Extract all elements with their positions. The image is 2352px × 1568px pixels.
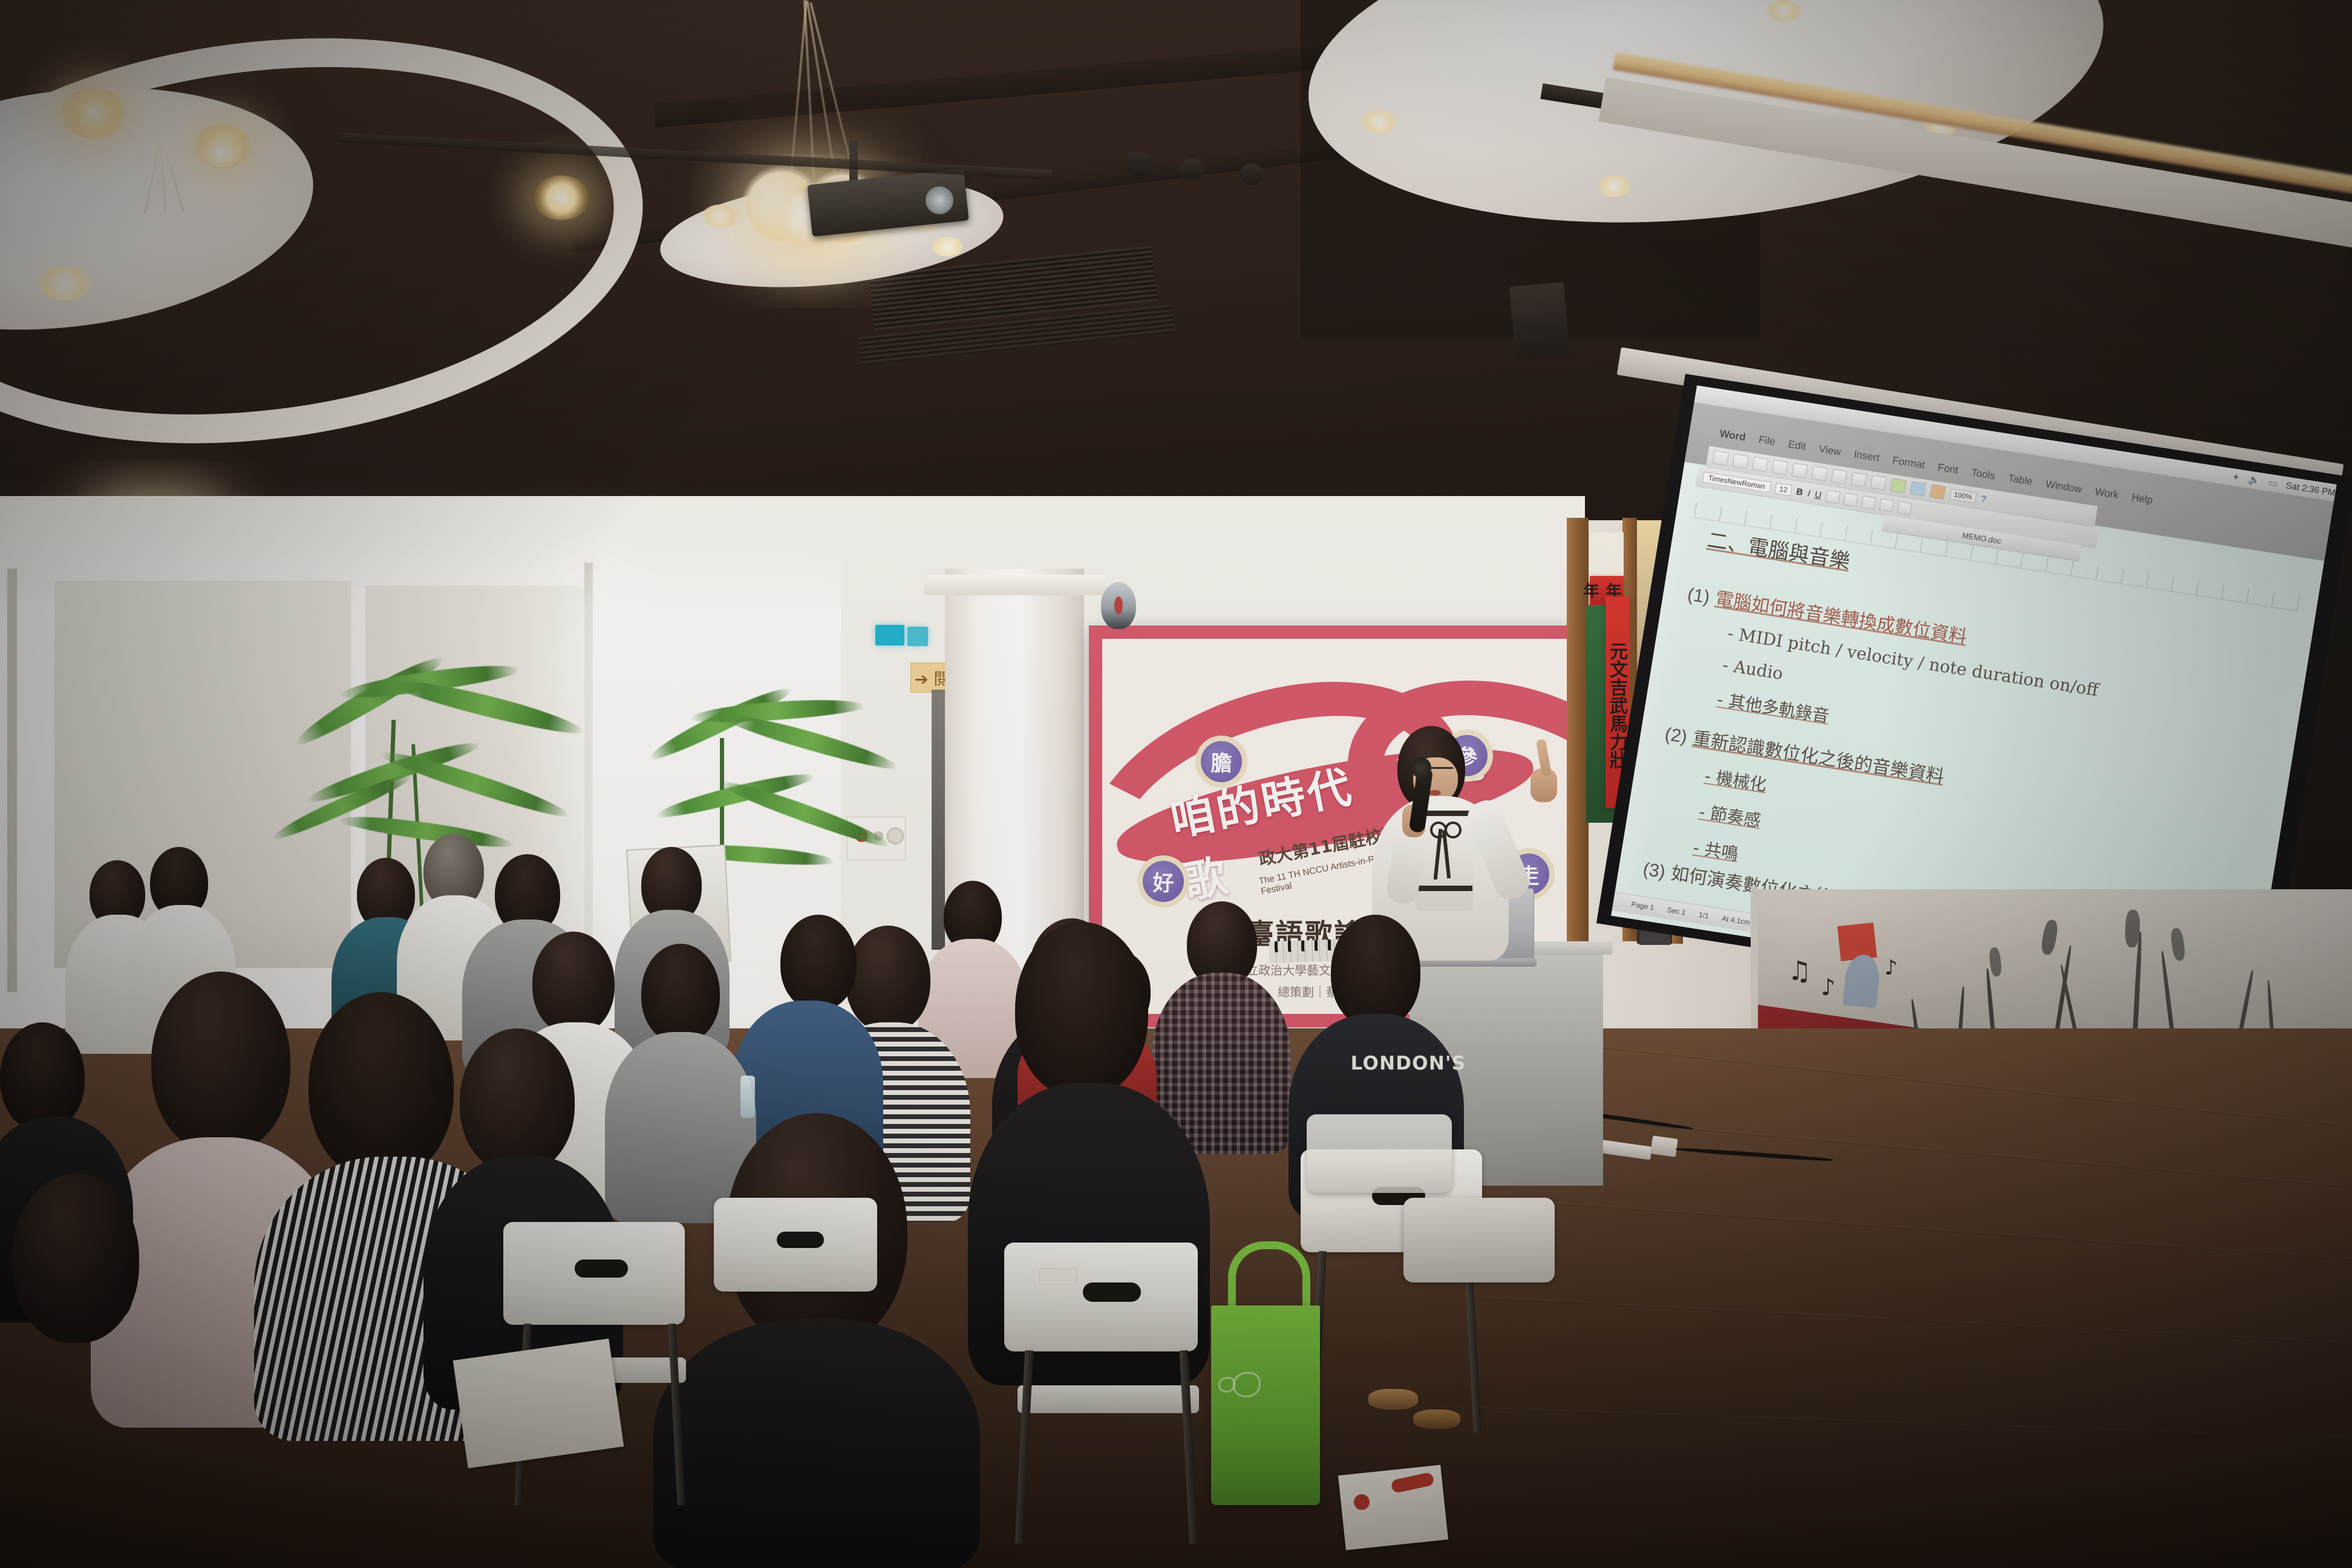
tote-bag-logo-icon bbox=[1218, 1377, 1235, 1393]
window-mullion bbox=[7, 569, 17, 992]
menu-item-work[interactable]: Work bbox=[2094, 486, 2120, 501]
menubar-icon-bluetooth[interactable]: ✦ bbox=[2231, 471, 2241, 484]
status-pages: 1/1 bbox=[1698, 910, 1710, 920]
window-mullion bbox=[584, 563, 593, 986]
downlight bbox=[1361, 110, 1397, 133]
section-2-number: (2) bbox=[1664, 724, 1689, 748]
align-center-icon[interactable] bbox=[1843, 493, 1858, 507]
booklet-red-accent bbox=[1354, 1494, 1370, 1510]
document-title: MEMO.doc bbox=[1962, 531, 2002, 546]
downlight bbox=[532, 175, 590, 220]
door-frame bbox=[1567, 518, 1589, 941]
audience-head bbox=[532, 932, 615, 1034]
paste-icon[interactable] bbox=[1831, 469, 1847, 484]
print-icon[interactable] bbox=[1772, 460, 1788, 475]
cut-icon[interactable] bbox=[1791, 463, 1808, 478]
chart-icon[interactable] bbox=[1910, 481, 1926, 496]
downlight bbox=[932, 237, 963, 256]
menu-item-help[interactable]: Help bbox=[2131, 491, 2154, 506]
menubar-icon-volume[interactable]: 🔈 bbox=[2247, 474, 2261, 488]
audience-head-foreground bbox=[460, 1028, 575, 1174]
audience-head bbox=[780, 915, 857, 1010]
downlight bbox=[1766, 0, 1802, 22]
menu-item-font[interactable]: Font bbox=[1937, 462, 1959, 477]
audience-head-foreground bbox=[309, 992, 454, 1180]
chair-handle-slot bbox=[777, 1232, 824, 1248]
audience-head bbox=[846, 926, 930, 1032]
menu-item-table[interactable]: Table bbox=[2007, 472, 2033, 488]
microphone-head bbox=[1411, 757, 1431, 778]
audience-body-foreground bbox=[653, 1319, 980, 1568]
downlight bbox=[60, 88, 127, 139]
chair-seat bbox=[1018, 1385, 1199, 1413]
menu-item-insert[interactable]: Insert bbox=[1853, 448, 1880, 464]
chair-handle-slot bbox=[575, 1259, 628, 1278]
menu-item-view[interactable]: View bbox=[1818, 443, 1841, 458]
menubar-clock[interactable]: Sat 2:36 PM bbox=[2285, 480, 2336, 498]
bold-button[interactable]: B bbox=[1795, 486, 1803, 497]
align-right-icon[interactable] bbox=[1861, 495, 1877, 509]
column-capital bbox=[924, 575, 1106, 595]
sandal bbox=[1413, 1410, 1460, 1429]
save-icon[interactable] bbox=[1752, 457, 1768, 472]
tote-bag-handle bbox=[1228, 1241, 1310, 1316]
audience-head bbox=[12, 1174, 139, 1343]
new-doc-icon[interactable] bbox=[1713, 451, 1729, 466]
downlight bbox=[36, 266, 92, 300]
status-page: Page 1 bbox=[1631, 900, 1655, 912]
zoom-level[interactable]: 100% bbox=[1949, 488, 1976, 503]
alarm-bell bbox=[887, 828, 904, 844]
tote-bag[interactable] bbox=[1211, 1305, 1320, 1505]
bullet-list-icon[interactable] bbox=[1879, 498, 1894, 512]
track-spotlight bbox=[1240, 163, 1263, 185]
exit-sign bbox=[907, 627, 928, 646]
menu-item-window[interactable]: Window bbox=[2045, 478, 2083, 495]
undo-icon[interactable] bbox=[1851, 472, 1867, 487]
menu-item-format[interactable]: Format bbox=[1892, 454, 1926, 471]
track-spotlight bbox=[1180, 158, 1204, 181]
banner-badge-3: 好 bbox=[1137, 855, 1189, 907]
menu-item-tools[interactable]: Tools bbox=[1970, 466, 1996, 482]
audience-head-foreground bbox=[1015, 922, 1148, 1097]
menu-item-word[interactable]: Word bbox=[1719, 428, 1746, 443]
menubar-icon-battery[interactable]: ▭ bbox=[2267, 477, 2278, 490]
status-at: At 4.1cm bbox=[1721, 914, 1751, 927]
tshirt-stripe bbox=[1417, 886, 1472, 891]
downlight bbox=[200, 139, 242, 167]
audience-head-foreground bbox=[151, 972, 290, 1153]
menu-item-file[interactable]: File bbox=[1758, 434, 1776, 448]
audience-head bbox=[641, 944, 720, 1043]
tshirt-scissors-icon bbox=[1445, 822, 1462, 838]
status-section: Sec 1 bbox=[1667, 906, 1687, 917]
menu-item-edit[interactable]: Edit bbox=[1788, 439, 1807, 453]
penguin-beak bbox=[1114, 596, 1123, 615]
help-icon[interactable]: ? bbox=[1981, 494, 1987, 505]
power-adapter bbox=[1650, 1135, 1678, 1157]
drawing-icon[interactable] bbox=[1930, 484, 1946, 499]
chair-handle-slot bbox=[1083, 1282, 1141, 1302]
sandal bbox=[1368, 1389, 1418, 1410]
audience-head bbox=[1331, 915, 1420, 1028]
open-icon[interactable] bbox=[1732, 454, 1748, 469]
downlight bbox=[1597, 175, 1631, 197]
photo-scene: ➔ 閱 咱的時代 咱的歌 膽 參 好 走 政 bbox=[0, 0, 2352, 1568]
presenter-mouth bbox=[1429, 790, 1441, 795]
section-3-number: (3) bbox=[1641, 859, 1667, 883]
track-spotlight bbox=[1125, 151, 1152, 177]
align-left-icon[interactable] bbox=[1825, 490, 1840, 504]
program-booklet[interactable] bbox=[453, 1339, 624, 1468]
table-icon[interactable] bbox=[1870, 475, 1887, 490]
exit-sign bbox=[875, 625, 904, 645]
folding-chair[interactable] bbox=[1307, 1114, 1452, 1193]
water-bottle[interactable] bbox=[740, 1076, 755, 1118]
tote-bag-logo-icon bbox=[1233, 1372, 1261, 1397]
chair-label bbox=[1039, 1268, 1077, 1285]
number-list-icon[interactable] bbox=[1897, 501, 1912, 515]
banner-badge-1: 膽 bbox=[1195, 736, 1247, 788]
highlight-icon[interactable] bbox=[1890, 478, 1906, 493]
italic-button[interactable]: I bbox=[1807, 488, 1811, 498]
folding-chair[interactable] bbox=[1403, 1198, 1555, 1282]
audience-tee-text: LONDON'S bbox=[1342, 1053, 1475, 1074]
downlight bbox=[702, 204, 739, 227]
underline-button[interactable]: U bbox=[1814, 489, 1822, 500]
audience-head bbox=[0, 1022, 85, 1131]
font-size-select[interactable]: 12 bbox=[1774, 483, 1792, 496]
ceiling-speaker bbox=[1509, 282, 1570, 359]
section-1-number: (1) bbox=[1686, 584, 1711, 608]
copy-icon[interactable] bbox=[1811, 466, 1828, 481]
